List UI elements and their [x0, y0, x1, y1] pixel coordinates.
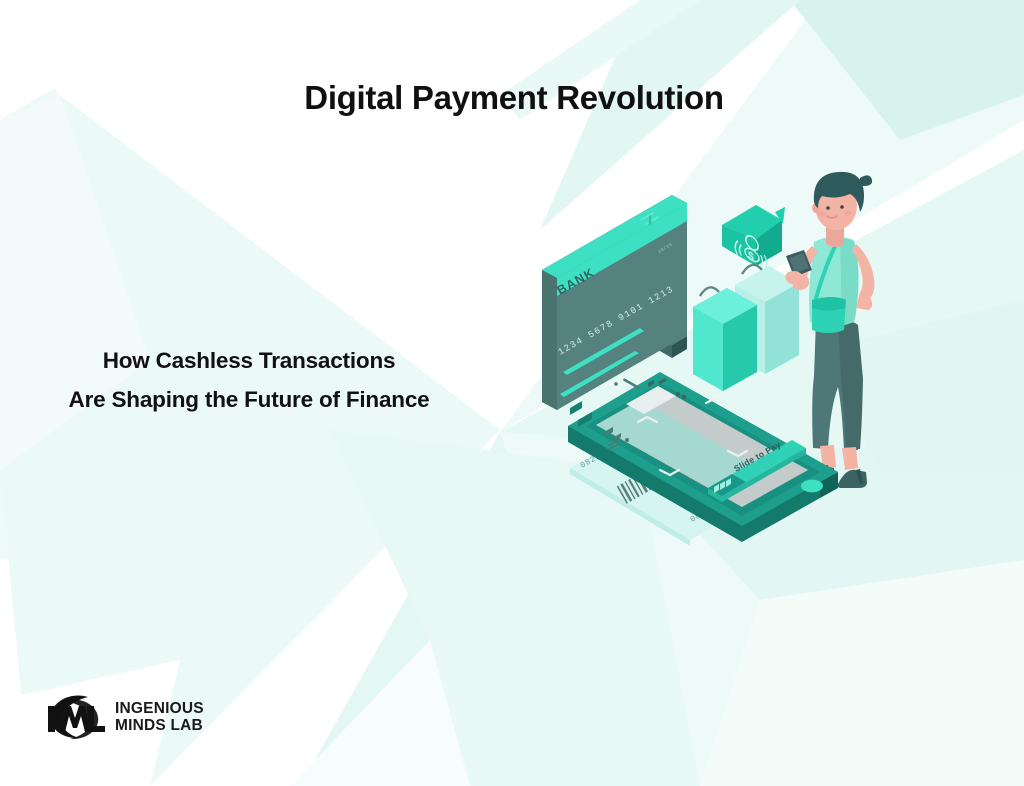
shopping-bags-graphic — [693, 265, 799, 391]
subtitle-line-1: How Cashless Transactions — [14, 342, 484, 381]
brand-logo[interactable]: INGENIOUS MINDS LAB — [44, 694, 204, 740]
person-eye-left — [826, 206, 830, 210]
person-crossbody-bag — [812, 297, 846, 333]
subtitle-line-2: Are Shaping the Future of Finance — [14, 381, 484, 420]
dollar-symbol: $ — [748, 249, 755, 264]
iml-monogram-icon — [44, 694, 106, 740]
person-eye-right — [840, 205, 844, 209]
page-title: Digital Payment Revolution — [0, 78, 1024, 118]
banner-canvas: Digital Payment Revolution How Cashless … — [0, 0, 1024, 786]
brand-name: INGENIOUS MINDS LAB — [115, 700, 204, 735]
page-subtitle: How Cashless Transactions Are Shaping th… — [14, 342, 484, 419]
person-shoe-right — [838, 470, 867, 488]
payment-illustration: BANK 1234 5678 9101 1213 10/20 — [520, 150, 940, 570]
smartphone-graphic: Slide to Pay — [568, 372, 838, 542]
person-hair-bun — [860, 175, 872, 186]
shopping-bag-front — [693, 287, 757, 391]
brand-name-line-2: MINDS LAB — [115, 717, 204, 734]
contactless-payment-bubble: $ — [722, 205, 785, 271]
brand-name-line-1: INGENIOUS — [115, 700, 204, 717]
